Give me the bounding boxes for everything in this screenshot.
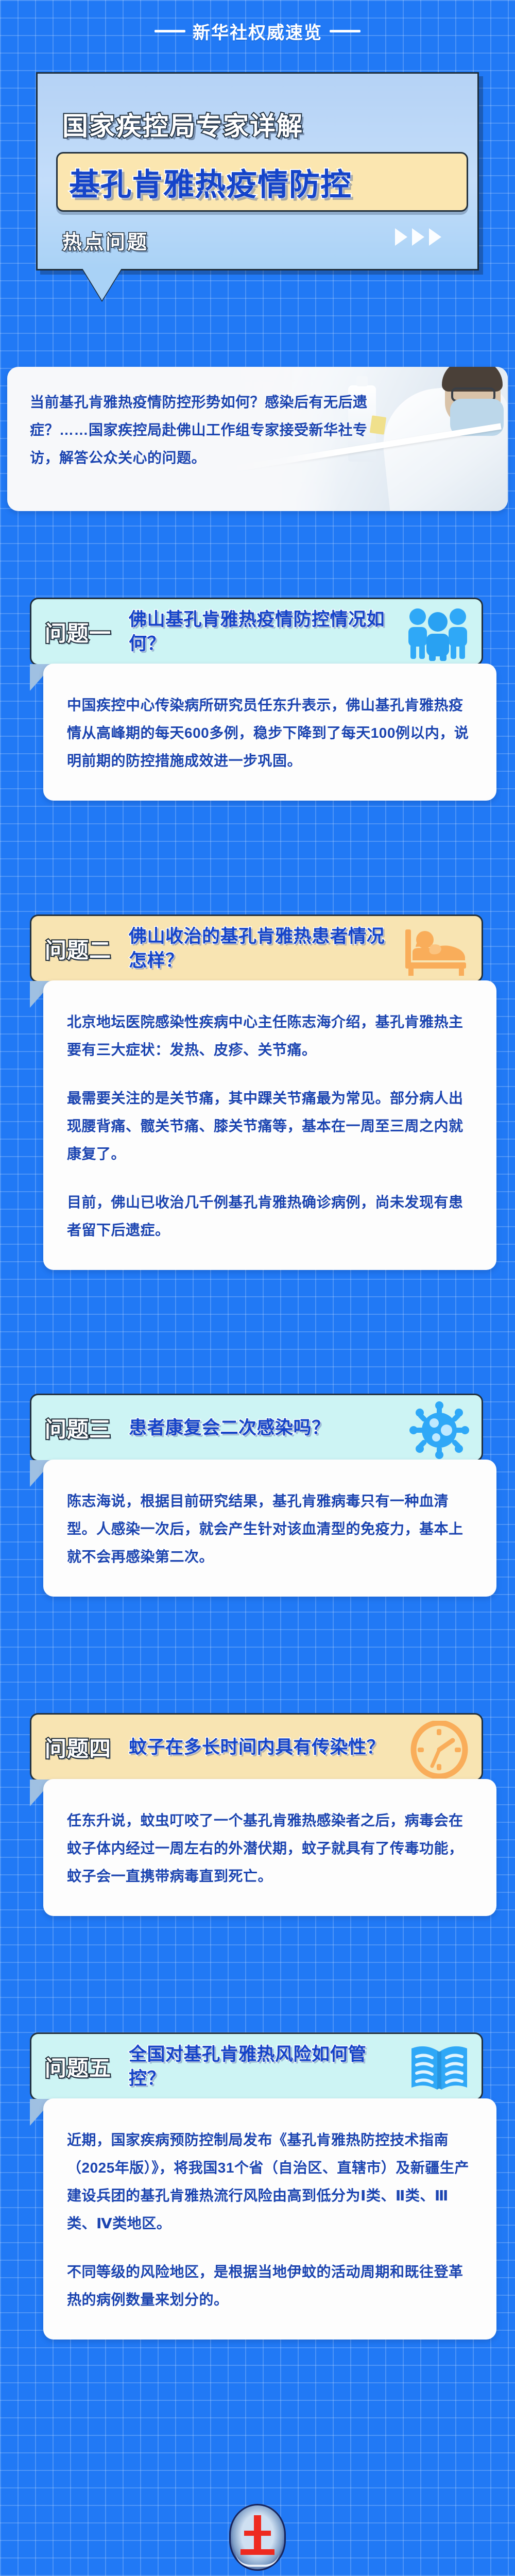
- question-title-3: 患者康复会二次感染吗？: [129, 1416, 402, 1440]
- question-block-1: 问题一 佛山基孔肯雅热疫情防控情况如何？ 中国疾控中心传染病所研究员任东升表示，…: [0, 598, 515, 801]
- banner-rule-right: [330, 30, 360, 32]
- question-header-5: 问题五 全国对基孔肯雅热风险如何管控？: [30, 2032, 483, 2100]
- question-title-2: 佛山收治的基孔肯雅热患者情况怎样？: [129, 924, 402, 973]
- hero-speech-tail: [82, 268, 122, 300]
- question-header-1: 问题一 佛山基孔肯雅热疫情防控情况如何？: [30, 598, 483, 666]
- footer: 新华社国内部、新华社广东分社 联合出品: [0, 2504, 515, 2576]
- question-paragraph: 近期，国家疾病预防控制局发布《基孔肯雅热防控技术指南（2025年版）》，将我国3…: [67, 2126, 473, 2238]
- question-paragraph: 不同等级的风险地区，是根据当地伊蚊的活动周期和既往登革热的病例数量来划分的。: [67, 2258, 473, 2314]
- hero-title-card: 国家疾控局专家详解 基孔肯雅热疫情防控 热点问题: [36, 72, 479, 270]
- question-title-1: 佛山基孔肯雅热疫情防控情况如何？: [129, 607, 402, 656]
- question-paragraph: 最需要关注的是关节痛，其中踝关节痛最为常见。部分病人出现腰背痛、髋关节痛、膝关节…: [67, 1084, 473, 1168]
- banner-title: 新华社权威速览: [193, 19, 322, 44]
- question-header-3: 问题三 患者康复会二次感染吗？: [30, 1394, 483, 1462]
- question-tag-1: 问题一: [45, 616, 111, 648]
- banner-rule-left: [154, 30, 185, 32]
- question-paragraph: 陈志海说，根据目前研究结果，基孔肯雅病毒只有一种血清型。人感染一次后，就会产生针…: [67, 1487, 473, 1571]
- question-body-2: 北京地坛医院感染性疾病中心主任陈志海介绍，基孔肯雅热主要有三大症状：发热、皮疹、…: [43, 980, 496, 1270]
- question-tag-4: 问题四: [45, 1732, 111, 1763]
- hospital-bed-icon: [402, 920, 474, 977]
- question-body-3: 陈志海说，根据目前研究结果，基孔肯雅病毒只有一种血清型。人感染一次后，就会产生针…: [43, 1460, 496, 1597]
- xinhua-logo-icon: [229, 2504, 286, 2571]
- forward-arrows-icon: [395, 228, 441, 246]
- question-body-5: 近期，国家疾病预防控制局发布《基孔肯雅热防控技术指南（2025年版）》，将我国3…: [43, 2098, 496, 2340]
- question-block-3: 问题三 患者康复会二次感染吗？: [0, 1394, 515, 1597]
- question-header-2: 问题二 佛山收治的基孔肯雅热患者情况怎样？: [30, 914, 483, 982]
- question-tag-5: 问题五: [45, 2051, 111, 2082]
- three-people-icon: [402, 603, 474, 660]
- hero-tagline: 热点问题: [62, 226, 149, 255]
- question-tag-2: 问题二: [45, 933, 111, 964]
- hero-subtitle: 国家疾控局专家详解: [62, 106, 303, 143]
- question-paragraph: 任东升说，蚊虫叮咬了一个基孔肯雅热感染者之后，病毒会在蚊子体内经过一周左右的外潜…: [67, 1807, 473, 1890]
- question-paragraph: 中国疾控中心传染病所研究员任东升表示，佛山基孔肯雅热疫情从高峰期的每天600多例…: [67, 691, 473, 775]
- top-banner: 新华社权威速览: [0, 15, 515, 46]
- question-title-4: 蚊子在多长时间内具有传染性？: [129, 1735, 402, 1759]
- question-paragraph: 目前，佛山已收治几千例基孔肯雅热确诊病例，尚未发现有患者留下后遗症。: [67, 1189, 473, 1244]
- question-header-4: 问题四 蚊子在多长时间内具有传染性？: [30, 1713, 483, 1781]
- hero-main-title: 基孔肯雅热疫情防控: [69, 160, 352, 205]
- question-body-4: 任东升说，蚊虫叮咬了一个基孔肯雅热感染者之后，病毒会在蚊子体内经过一周左右的外潜…: [43, 1779, 496, 1916]
- clock-icon: [402, 1719, 474, 1775]
- question-block-4: 问题四 蚊子在多长时间内具有传染性？ 任东升说，蚊虫叮咬了一个基孔肯雅热感染者之…: [0, 1713, 515, 1916]
- open-book-icon: [402, 2038, 474, 2095]
- virus-icon: [402, 1399, 474, 1456]
- question-block-5: 问题五 全国对基孔肯雅热风险如何管控？ 近期，国家疾病预防控制局发布《基孔肯雅热…: [0, 2032, 515, 2340]
- question-paragraph: 北京地坛医院感染性疾病中心主任陈志海介绍，基孔肯雅热主要有三大症状：发热、皮疹、…: [67, 1008, 473, 1064]
- intro-card: 当前基孔肯雅热疫情防控形势如何？感染后有无后遗症？……国家疾控局赴佛山工作组专家…: [7, 367, 508, 511]
- question-title-5: 全国对基孔肯雅热风险如何管控？: [129, 2042, 402, 2091]
- question-body-1: 中国疾控中心传染病所研究员任东升表示，佛山基孔肯雅热疫情从高峰期的每天600多例…: [43, 664, 496, 801]
- question-tag-3: 问题三: [45, 1412, 111, 1444]
- intro-text: 当前基孔肯雅热疫情防控形势如何？感染后有无后遗症？……国家疾控局赴佛山工作组专家…: [30, 388, 390, 472]
- question-block-2: 问题二 佛山收治的基孔肯雅热患者情况怎样？ 北京地坛医院感染性疾病中心主任陈志海…: [0, 914, 515, 1270]
- hero-title-band: 基孔肯雅热疫情防控: [56, 152, 468, 212]
